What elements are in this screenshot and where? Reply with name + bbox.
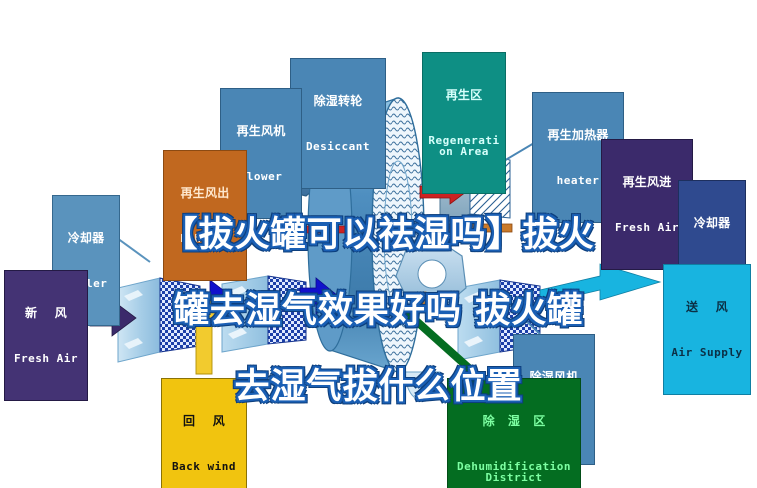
label-air-supply-en: Air Supply: [668, 347, 746, 359]
label-dehumidification-district[interactable]: 除 湿 区 Dehumidification District: [447, 378, 581, 488]
label-regeneration-area[interactable]: 再生区 Regenerati on Area: [422, 52, 506, 194]
label-cooler-right-cn: 冷却器: [683, 217, 741, 230]
label-regeneration-exhaust-cn: 再生风出: [168, 187, 242, 200]
label-back-wind-en: Back wind: [166, 461, 242, 473]
label-dehumidification-district-cn: 除 湿 区: [452, 415, 576, 428]
label-air-supply-cn: 送 风: [668, 301, 746, 314]
label-air-supply[interactable]: 送 风 Air Supply: [663, 264, 751, 395]
label-fresh-air-in[interactable]: 新 风 Fresh Air: [4, 270, 88, 401]
label-desiccant-wheel-en: Desiccant: [295, 141, 381, 153]
label-regeneration-exhaust[interactable]: 再生风出 Exhaust: [163, 150, 247, 281]
label-fresh-air-in-en: Fresh Air: [9, 353, 83, 365]
label-regeneration-fresh-air-in-cn: 再生风进: [606, 176, 688, 189]
label-regeneration-area-en: Regenerati on Area: [427, 135, 501, 158]
label-desiccant-wheel-cn: 除湿转轮: [295, 95, 381, 108]
label-regeneration-exhaust-en: Exhaust: [168, 233, 242, 245]
label-regeneration-fresh-air-in-en: Fresh Air: [606, 222, 688, 234]
label-layer: 除湿转轮 Desiccant 再生风机 Blower 再生区 Regenerat…: [0, 0, 757, 488]
label-cooler-left-cn: 冷却器: [57, 232, 115, 245]
label-back-wind-cn: 回 风: [166, 415, 242, 428]
label-regeneration-area-cn: 再生区: [427, 89, 501, 102]
label-back-wind[interactable]: 回 风 Back wind: [161, 378, 247, 488]
label-dehumidification-district-en: Dehumidification District: [452, 461, 576, 484]
label-regeneration-blower-cn: 再生风机: [225, 125, 297, 138]
label-desiccant-wheel[interactable]: 除湿转轮 Desiccant: [290, 58, 386, 189]
diagram-canvas: XTJ: [0, 0, 757, 488]
label-fresh-air-in-cn: 新 风: [9, 307, 83, 320]
